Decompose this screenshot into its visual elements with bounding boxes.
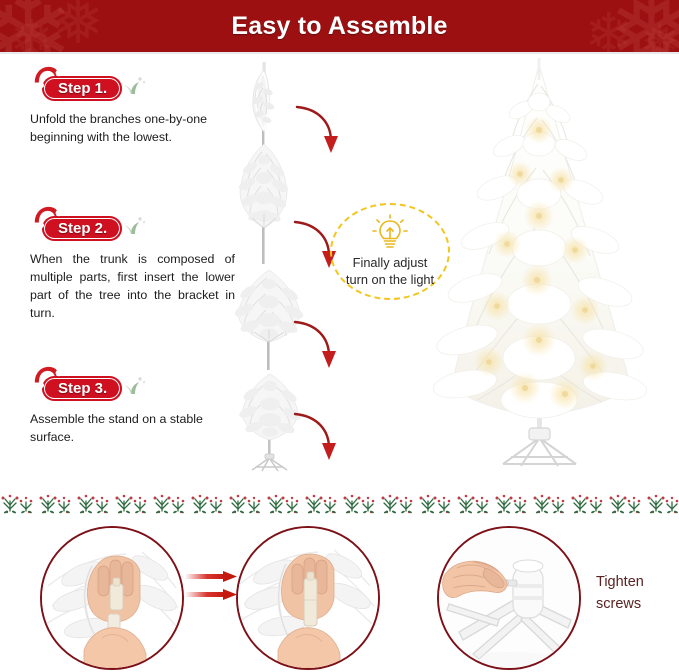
holly-sprig-icon	[122, 374, 148, 396]
step-text-2: When the trunk is composed of multiple p…	[30, 251, 235, 323]
step-badge-wrap-2: Step 2.	[30, 212, 235, 242]
plug-connector-after-photo	[236, 526, 380, 670]
step-block-2: Step 2. When the trunk is composed of mu…	[30, 212, 235, 323]
tighten-line-1: Tighten	[596, 571, 676, 593]
curved-down-arrow-icon	[295, 103, 341, 162]
step-text-1: Unfold the branches one-by-one beginning…	[30, 111, 235, 147]
step-block-1: Step 1. Unfold the branches one-by-one b…	[30, 72, 235, 147]
light-bulb-icon	[371, 212, 409, 252]
plug-connector-before-photo	[40, 526, 184, 670]
santa-hat-icon	[32, 365, 62, 389]
tree-stage-2	[228, 142, 300, 264]
step-badge-wrap-3: Step 3.	[30, 372, 235, 402]
curved-down-arrow-icon	[293, 410, 339, 469]
page-title: Easy to Assemble	[0, 0, 679, 52]
header-banner: ❄ ❅ ❄ ❅ ❄ ❅ Easy to Assemble	[0, 0, 679, 52]
infographic-page: ❄ ❅ ❄ ❅ ❄ ❅ Easy to Assemble Step 1. Unf…	[0, 0, 679, 672]
banner-underline	[0, 52, 679, 54]
tree-stage-1	[232, 62, 296, 154]
holly-sprig-icon	[122, 214, 148, 236]
step-badge-wrap-1: Step 1.	[30, 72, 235, 102]
step-text-3: Assemble the stand on a stable surface.	[30, 411, 235, 447]
white-christmas-tree-lit	[425, 58, 675, 480]
curved-down-arrow-icon	[293, 318, 339, 377]
holly-berry-border-icon	[0, 493, 679, 517]
double-right-arrow-icon	[183, 570, 241, 604]
tighten-screws-label: Tighten screws	[596, 571, 676, 616]
step-block-3: Step 3. Assemble the stand on a stable s…	[30, 372, 235, 447]
santa-hat-icon	[32, 65, 62, 89]
santa-hat-icon	[32, 205, 62, 229]
tighten-screws-photo	[437, 526, 581, 670]
holly-sprig-icon	[122, 74, 148, 96]
tighten-line-2: screws	[596, 593, 676, 615]
